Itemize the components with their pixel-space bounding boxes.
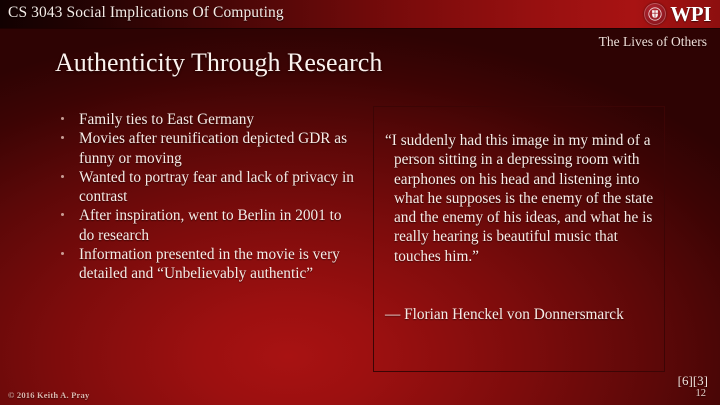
list-item-label: Family ties to East Germany bbox=[79, 111, 254, 128]
quote-box: “I suddenly had this image in my mind of… bbox=[373, 106, 665, 372]
bullet-dot-icon bbox=[61, 117, 64, 120]
movie-subtitle: The Lives of Others bbox=[599, 34, 707, 50]
list-item: Family ties to East Germany bbox=[56, 110, 356, 129]
list-item-label: Information presented in the movie is ve… bbox=[79, 246, 340, 282]
bullet-dot-icon bbox=[61, 136, 64, 139]
page-number: 12 bbox=[696, 388, 707, 399]
list-item: Movies after reunification depicted GDR … bbox=[56, 129, 356, 168]
bullet-dot-icon bbox=[61, 175, 64, 178]
wpi-seal-icon bbox=[644, 3, 666, 25]
page-title: Authenticity Through Research bbox=[55, 48, 382, 78]
bullet-list: Family ties to East Germany Movies after… bbox=[56, 110, 356, 284]
presentation-slide: CS 3043 Social Implications Of Computing… bbox=[0, 0, 720, 405]
bullet-dot-icon bbox=[61, 213, 64, 216]
course-title: CS 3043 Social Implications Of Computing bbox=[8, 4, 284, 22]
citation-reference: [6][3] bbox=[678, 373, 708, 389]
quote-attribution: — Florian Henckel von Donnersmarck bbox=[385, 305, 662, 324]
copyright-notice: © 2016 Keith A. Pray bbox=[8, 390, 89, 400]
wpi-wordmark: WPI bbox=[670, 4, 711, 25]
quote-text: “I suddenly had this image in my mind of… bbox=[385, 131, 662, 266]
wpi-logo: WPI bbox=[644, 2, 711, 26]
bullet-dot-icon bbox=[61, 252, 64, 255]
list-item: Information presented in the movie is ve… bbox=[56, 245, 356, 284]
list-item-label: Wanted to portray fear and lack of priva… bbox=[79, 169, 354, 205]
list-item: After inspiration, went to Berlin in 200… bbox=[56, 206, 356, 245]
list-item-label: Movies after reunification depicted GDR … bbox=[79, 130, 347, 166]
list-item-label: After inspiration, went to Berlin in 200… bbox=[79, 207, 342, 243]
slide-header-bar: CS 3043 Social Implications Of Computing… bbox=[0, 0, 720, 28]
list-item: Wanted to portray fear and lack of priva… bbox=[56, 168, 356, 207]
